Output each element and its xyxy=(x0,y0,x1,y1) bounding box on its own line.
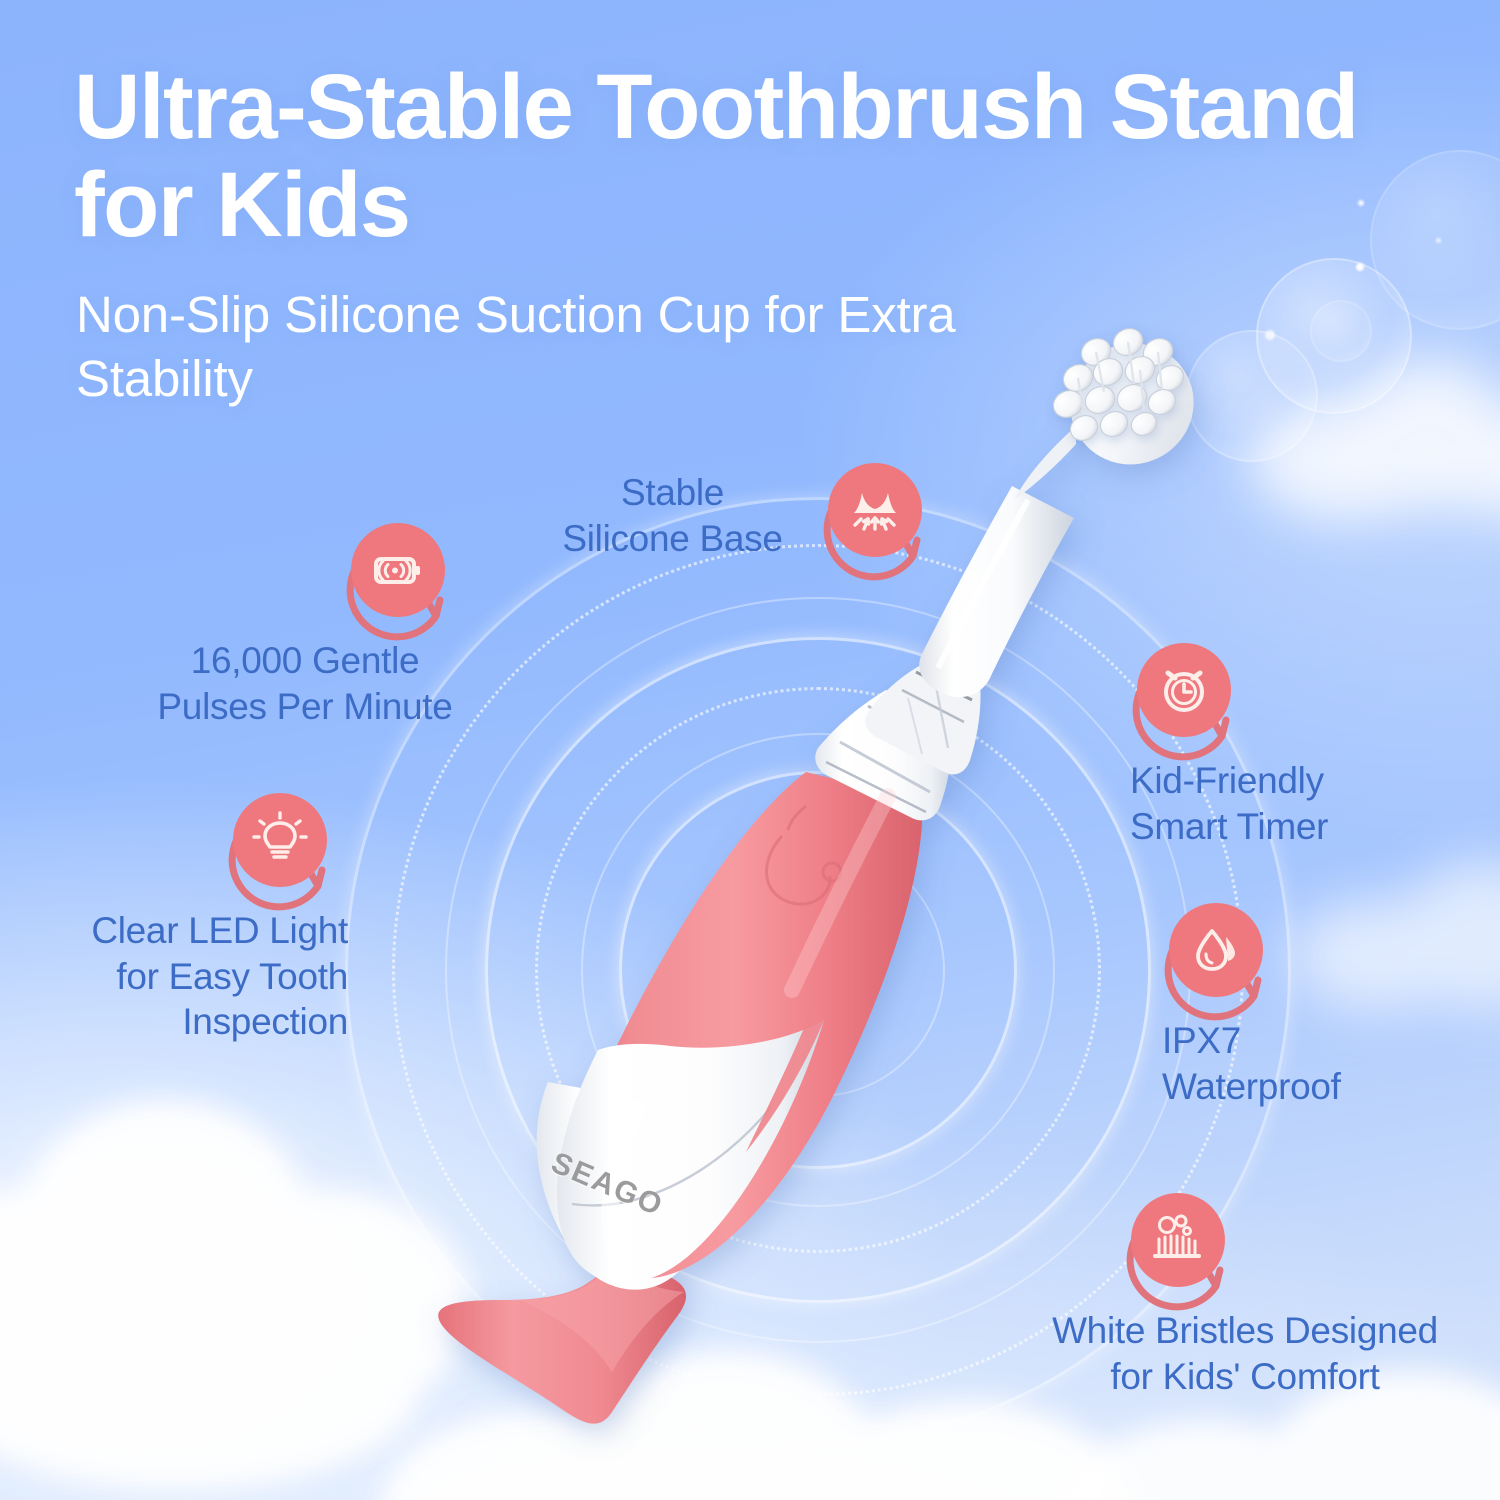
lightbulb-icon xyxy=(222,790,338,906)
suction-cup-icon xyxy=(817,460,933,576)
feature-silicone-base-label: Stable Silicone Base xyxy=(545,470,800,561)
page-subtitle: Non-Slip Silicone Suction Cup for Extra … xyxy=(76,283,1056,412)
battery-sonic-icon xyxy=(340,520,456,636)
page-title: Ultra-Stable Toothbrush Stand for Kids xyxy=(74,58,1464,255)
feature-led-light-label: Clear LED Light for Easy Tooth Inspectio… xyxy=(28,908,348,1045)
feature-pulses-label: 16,000 Gentle Pulses Per Minute xyxy=(140,638,470,729)
feature-waterproof-label: IPX7 Waterproof xyxy=(1162,1018,1492,1109)
infographic-canvas: SEAGO Ultra-Stable Toothbrush Stand for … xyxy=(0,0,1500,1500)
bristles-bubbles-icon xyxy=(1120,1190,1236,1306)
alarm-clock-icon xyxy=(1126,640,1242,756)
feature-smart-timer-label: Kid-Friendly Smart Timer xyxy=(1130,758,1470,849)
water-droplet-icon xyxy=(1158,900,1274,1016)
feature-bristles-label: White Bristles Designed for Kids' Comfor… xyxy=(1020,1308,1470,1399)
